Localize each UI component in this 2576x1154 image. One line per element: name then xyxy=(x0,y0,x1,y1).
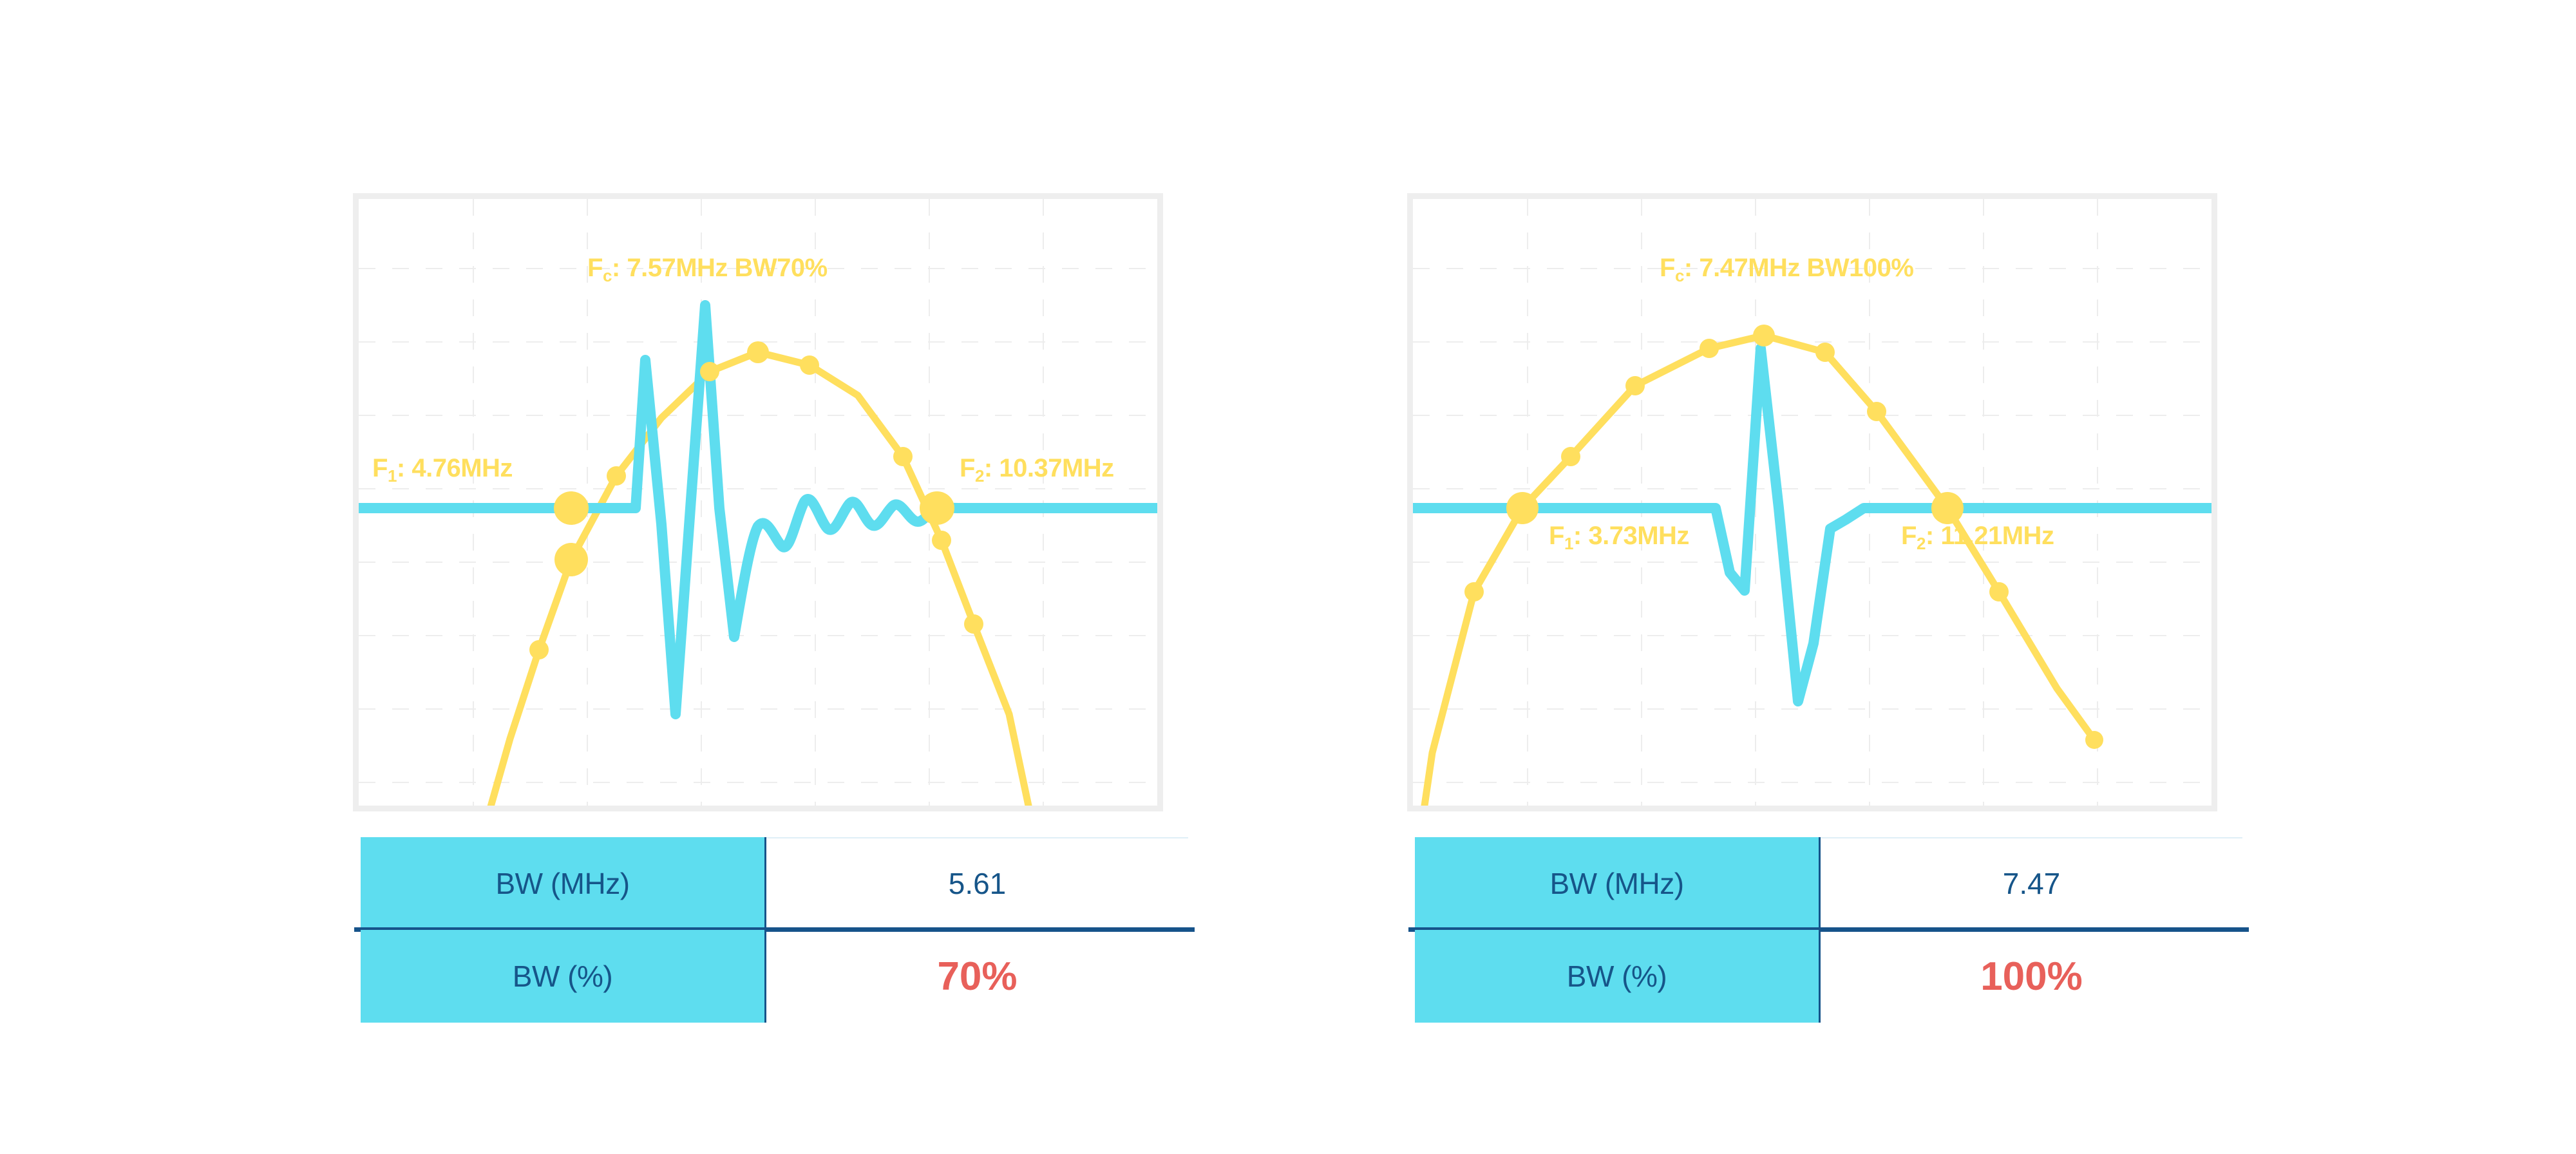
panel-right: Fc: 7.47MHz BW100% F1: 3.73MHz F2: 11.21… xyxy=(1054,0,2342,1154)
lower-frequency-label-left: F1: 4.76MHz xyxy=(372,454,513,483)
chart-frame-right xyxy=(1407,193,2217,811)
pulse-waveform-left xyxy=(359,305,1157,714)
chart-plot-area-left xyxy=(359,199,1157,806)
pulse-waveform-right xyxy=(1413,348,2211,701)
bw-mhz-label-left: BW (MHz) xyxy=(361,837,766,930)
spectrum-markers-left xyxy=(529,341,983,659)
table-row: BW (%) 100% xyxy=(1415,930,2242,1023)
lower-frequency-label-right: F1: 3.73MHz xyxy=(1549,522,1689,551)
bw-percent-label-left: BW (%) xyxy=(361,930,766,1023)
spectrum-curve-left xyxy=(485,352,1028,806)
upper-frequency-subscript-right: 2 xyxy=(1917,534,1926,553)
lower-frequency-text-right: : 3.73MHz xyxy=(1573,522,1689,550)
bw-percent-label-right: BW (%) xyxy=(1415,930,1821,1023)
chart-plot-area-right xyxy=(1413,199,2211,806)
table-row: BW (MHz) 7.47 xyxy=(1415,837,2242,930)
gridlines-left xyxy=(359,199,1157,806)
upper-frequency-text-right: : 11.21MHz xyxy=(1926,522,2054,550)
center-frequency-label-left: Fc: 7.57MHz BW70% xyxy=(587,254,828,283)
bw-mhz-label-right: BW (MHz) xyxy=(1415,837,1821,930)
center-frequency-subscript-left: c xyxy=(603,266,612,285)
chart-frame-left xyxy=(353,193,1163,811)
chart-svg-right xyxy=(1413,199,2211,806)
lower-frequency-subscript-left: 1 xyxy=(388,466,397,486)
upper-frequency-subscript-left: 2 xyxy=(975,466,984,486)
chart-svg-left xyxy=(359,199,1157,806)
center-frequency-text-right: : 7.47MHz BW100% xyxy=(1684,254,1914,282)
lower-frequency-text-left: : 4.76MHz xyxy=(397,454,513,482)
center-frequency-label-right: Fc: 7.47MHz BW100% xyxy=(1660,254,1913,283)
center-frequency-text-left: : 7.57MHz BW70% xyxy=(612,254,828,282)
bw-mhz-value-right: 7.47 xyxy=(1821,837,2242,930)
bw-percent-value-right: 100% xyxy=(1821,930,2242,1023)
center-frequency-subscript-right: c xyxy=(1675,266,1684,285)
bandwidth-table-right: BW (MHz) 7.47 BW (%) 100% xyxy=(1415,837,2242,1023)
upper-frequency-label-right: F2: 11.21MHz xyxy=(1901,522,2054,551)
lower-frequency-subscript-right: 1 xyxy=(1564,534,1573,553)
